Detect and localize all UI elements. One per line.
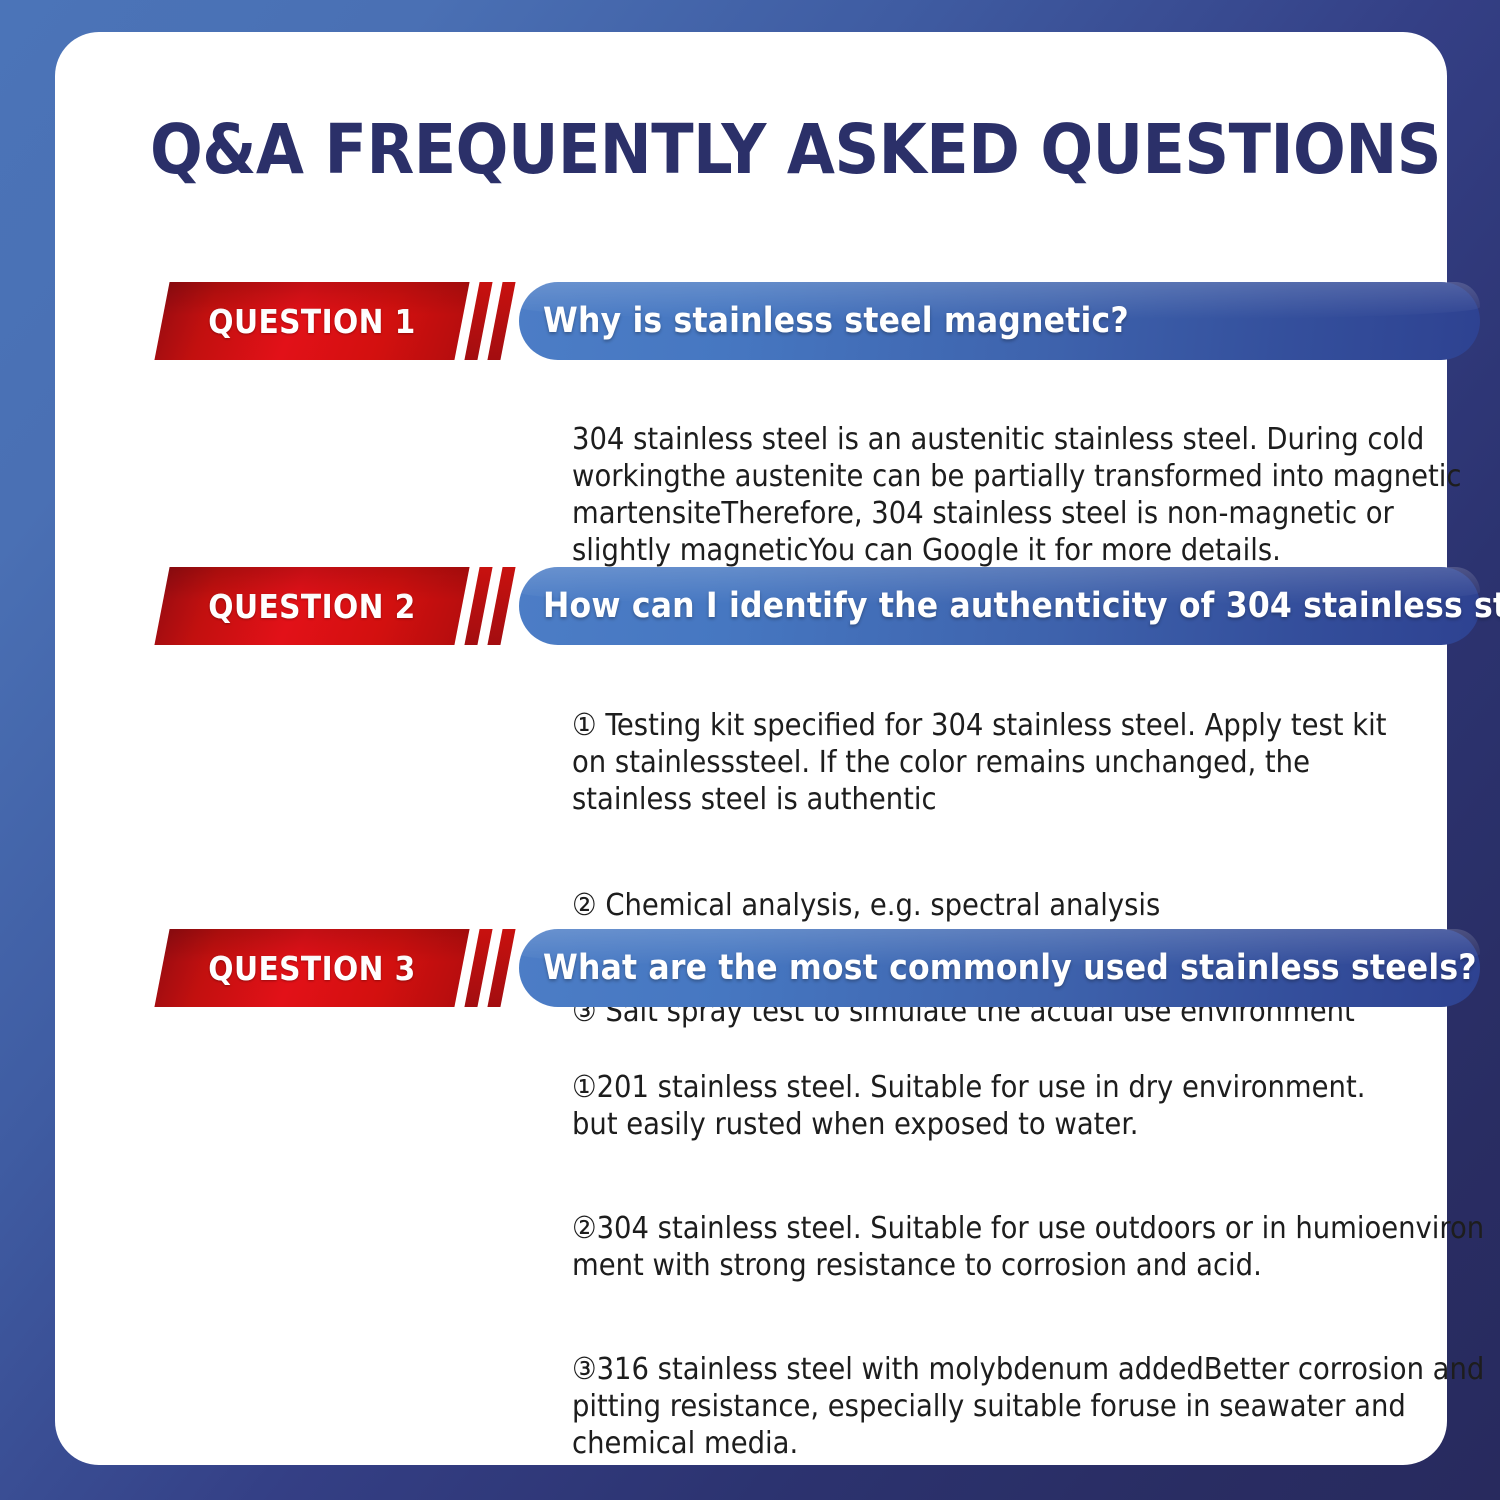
question-tag-label-2: QUESTION 2 — [162, 567, 462, 645]
answer-paragraph: ②304 stainless steel. Suitable for use o… — [572, 1210, 1492, 1284]
answer-paragraph: ③316 stainless steel with molybdenum add… — [572, 1351, 1492, 1462]
slash-decoration-icon — [464, 929, 492, 1007]
slash-decoration-icon — [464, 282, 492, 360]
answer-paragraph: ①201 stainless steel. Suitable for use i… — [572, 1069, 1492, 1143]
answer-block-3: ①201 stainless steel. Suitable for use i… — [572, 1032, 1492, 1500]
answer-paragraph: ① Testing kit specified for 304 stainles… — [572, 707, 1402, 818]
question-tag-label-3: QUESTION 3 — [162, 929, 462, 1007]
answer-paragraph: ② Chemical analysis, e.g. spectral analy… — [572, 887, 1402, 924]
question-banner-2[interactable]: How can I identify the authenticity of 3… — [519, 567, 1480, 645]
slash-decoration-icon — [487, 282, 515, 360]
content-card: Q&A FREQUENTLY ASKED QUESTIONS QUESTION … — [55, 32, 1447, 1465]
faq-row-1: QUESTION 1 Why is stainless steel magnet… — [55, 282, 1447, 360]
slash-decoration-icon — [487, 567, 515, 645]
faq-row-3: QUESTION 3 What are the most commonly us… — [55, 929, 1447, 1007]
slash-decoration-icon — [487, 929, 515, 1007]
question-tag-label-1: QUESTION 1 — [162, 282, 462, 360]
question-text-1: Why is stainless steel magnetic? — [519, 301, 1129, 341]
question-banner-1[interactable]: Why is stainless steel magnetic? — [519, 282, 1480, 360]
question-tag-2: QUESTION 2 — [154, 567, 469, 645]
slash-decoration-icon — [464, 567, 492, 645]
page-title: Q&A FREQUENTLY ASKED QUESTIONS — [150, 110, 1360, 190]
question-text-3: What are the most commonly used stainles… — [519, 948, 1477, 988]
faq-row-2: QUESTION 2 How can I identify the authen… — [55, 567, 1447, 645]
answer-paragraph: 304 stainless steel is an austenitic sta… — [572, 421, 1462, 569]
question-tag-3: QUESTION 3 — [154, 929, 469, 1007]
question-banner-3[interactable]: What are the most commonly used stainles… — [519, 929, 1480, 1007]
question-tag-1: QUESTION 1 — [154, 282, 469, 360]
faq-page: Q&A FREQUENTLY ASKED QUESTIONS QUESTION … — [0, 0, 1500, 1500]
question-text-2: How can I identify the authenticity of 3… — [519, 586, 1500, 626]
answer-block-2: ① Testing kit specified for 304 stainles… — [572, 670, 1402, 1067]
